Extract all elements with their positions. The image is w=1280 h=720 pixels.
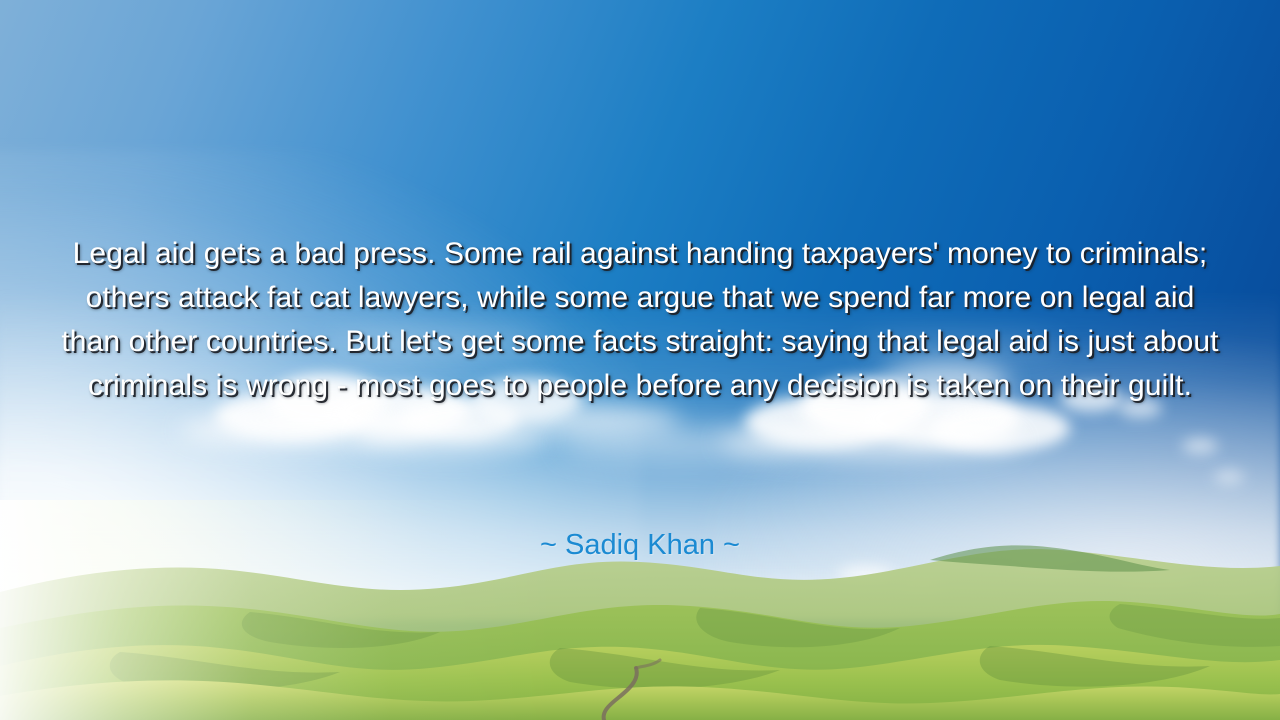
quote-text: Legal aid gets a bad press. Some rail ag… [56, 232, 1224, 408]
quote-author: ~ Sadiq Khan ~ [0, 525, 1280, 565]
quote-image: Legal aid gets a bad press. Some rail ag… [0, 0, 1280, 720]
cloud [720, 424, 1020, 460]
attribution-block: ~ Sadiq Khan ~ [0, 525, 1280, 565]
cloud [1182, 438, 1218, 454]
cloud [1214, 470, 1244, 484]
quote-block: Legal aid gets a bad press. Some rail ag… [0, 232, 1280, 408]
